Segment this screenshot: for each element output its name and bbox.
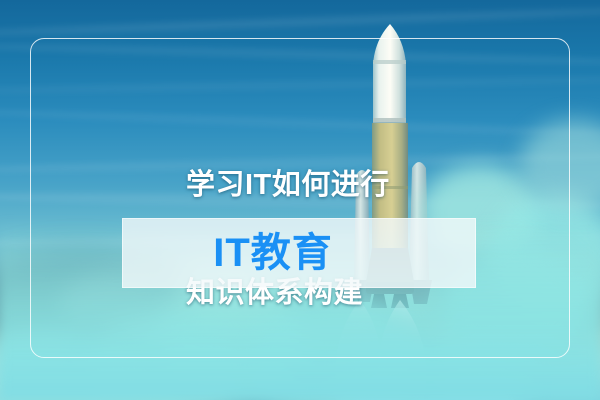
headline-line-1: 学习IT如何进行 <box>186 167 486 203</box>
category-banner-label: IT教育 <box>213 233 333 273</box>
poster-canvas: 学习IT如何进行 知识体系构建 IT教育 <box>0 0 600 400</box>
category-banner: IT教育 <box>122 218 476 288</box>
